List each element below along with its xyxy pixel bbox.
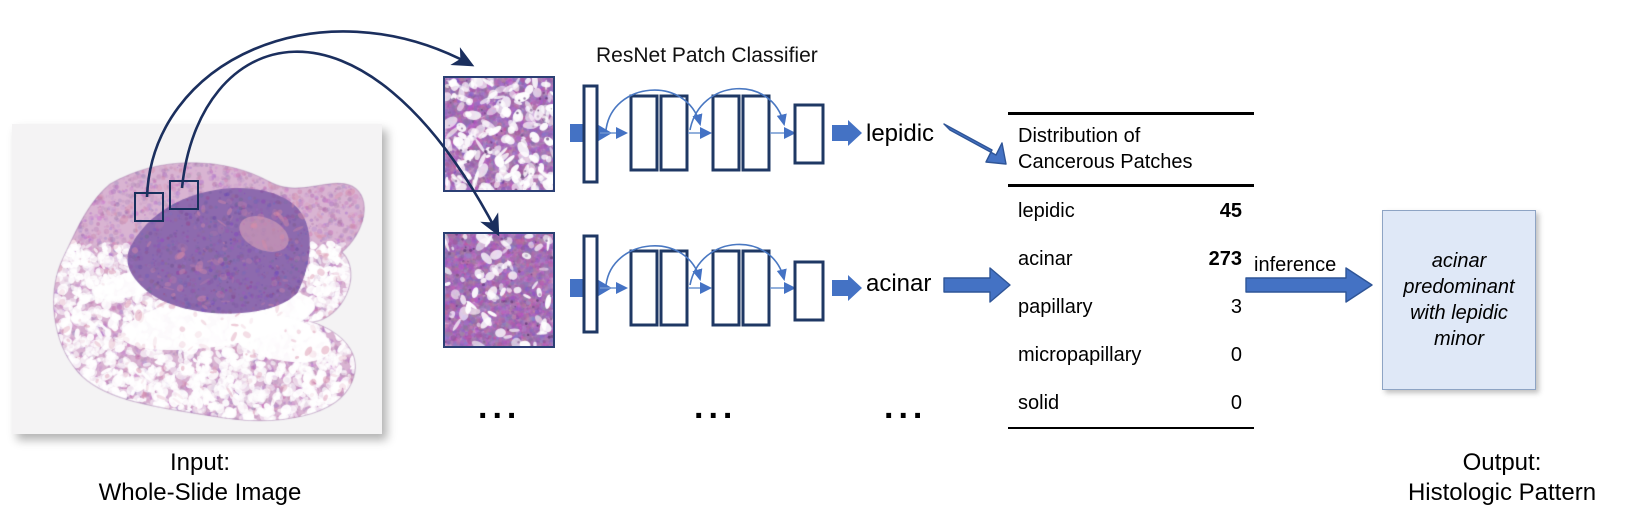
whole-slide-canvas: [12, 124, 382, 434]
table-cell-count: 0: [1231, 392, 1242, 415]
class-label-acinar: acinar: [866, 270, 931, 298]
table-row: solid 0: [1008, 379, 1254, 427]
resnet-row-2: [570, 236, 862, 332]
conv-block-2c: [713, 251, 739, 325]
fc-layer-2: [795, 262, 823, 320]
patch-to-net-arrowhead-2: [590, 275, 612, 301]
skip-connection-2a: [606, 246, 700, 285]
output-result-text: acinar predominant with lepidic minor: [1383, 248, 1535, 352]
flow-arrowhead-1a: [616, 127, 628, 139]
figure-canvas: Input: Whole-Slide Image ResNet Patch Cl…: [0, 0, 1644, 532]
whole-slide-image: [12, 124, 382, 434]
table-cell-count: 0: [1231, 344, 1242, 367]
table-cell-pattern: acinar: [1018, 248, 1072, 271]
fc-layer-1: [795, 105, 823, 163]
table-cell-count: 45: [1220, 200, 1242, 223]
conv-block-2d: [743, 251, 769, 325]
flow-arrowhead-2a: [616, 282, 628, 294]
net-to-label-arrow-1: [832, 125, 850, 141]
conv-block-1b: [661, 96, 687, 170]
table-row: micropapillary 0: [1008, 331, 1254, 379]
table-cell-pattern: micropapillary: [1018, 344, 1141, 367]
conv-block-1a: [631, 96, 657, 170]
table-cell-count: 3: [1231, 296, 1242, 319]
table-rule-bottom: [1008, 427, 1254, 429]
skip-connection-1a: [606, 90, 700, 130]
input-caption-line2: Whole-Slide Image: [30, 478, 370, 508]
patch-lepidic-canvas: [445, 78, 553, 190]
net-to-label-arrowhead-1: [848, 120, 862, 146]
conv-block-1d: [743, 96, 769, 170]
output-caption-line2: Histologic Pattern: [1372, 478, 1632, 508]
output-box: acinar predominant with lepidic minor: [1382, 210, 1536, 390]
acinar-to-table-arrow: [944, 268, 1010, 302]
roi-box-2[interactable]: [169, 180, 199, 210]
input-caption-line1: Input:: [30, 448, 370, 478]
conv-block-2b: [661, 251, 687, 325]
resnet-row-1: [570, 86, 862, 182]
flow-arrowhead-2c: [784, 282, 796, 294]
table-cell-count: 273: [1209, 248, 1242, 271]
conv-block-2a: [631, 251, 657, 325]
table-title-line1: Distribution of: [1018, 124, 1246, 150]
output-caption: Output: Histologic Pattern: [1372, 448, 1632, 508]
input-layer-1: [584, 86, 597, 182]
roi-box-1[interactable]: [134, 192, 164, 222]
table-title: Distribution of Cancerous Patches: [1008, 115, 1254, 184]
patch-to-net-arrow-2: [570, 279, 592, 297]
class-label-lepidic: lepidic: [866, 120, 934, 148]
table-row: lepidic 45: [1008, 187, 1254, 235]
flow-arrowhead-2b: [700, 282, 712, 294]
skip-connection-1b: [690, 89, 784, 130]
distribution-table: Distribution of Cancerous Patches lepidi…: [1008, 112, 1254, 429]
ellipsis-labels: ...: [884, 390, 927, 424]
patch-acinar-canvas: [445, 234, 553, 346]
ellipsis-patches: ...: [478, 390, 521, 424]
patch-to-net-arrowhead-1: [590, 120, 612, 146]
output-caption-line1: Output:: [1372, 448, 1632, 478]
net-to-label-arrowhead-2: [848, 275, 862, 301]
patch-to-net-arrow-1: [570, 124, 592, 142]
inference-label: inference: [1254, 254, 1336, 278]
patch-acinar[interactable]: [443, 232, 555, 348]
skip-connection-2b: [690, 244, 784, 285]
table-cell-pattern: lepidic: [1018, 200, 1075, 223]
lepidic-to-table-arrow: [944, 124, 1006, 164]
patch-lepidic[interactable]: [443, 76, 555, 192]
table-title-line2: Cancerous Patches: [1018, 150, 1246, 176]
table-cell-pattern: papillary: [1018, 296, 1092, 319]
input-layer-2: [584, 236, 597, 332]
conv-block-1c: [713, 96, 739, 170]
table-row: acinar 273: [1008, 235, 1254, 283]
flow-arrowhead-1c: [784, 127, 796, 139]
resnet-title: ResNet Patch Classifier: [596, 44, 818, 69]
input-caption: Input: Whole-Slide Image: [30, 448, 370, 508]
table-row: papillary 3: [1008, 283, 1254, 331]
ellipsis-network: ...: [694, 390, 737, 424]
table-cell-pattern: solid: [1018, 392, 1059, 415]
flow-arrowhead-1b: [700, 127, 712, 139]
net-to-label-arrow-2: [832, 280, 850, 296]
